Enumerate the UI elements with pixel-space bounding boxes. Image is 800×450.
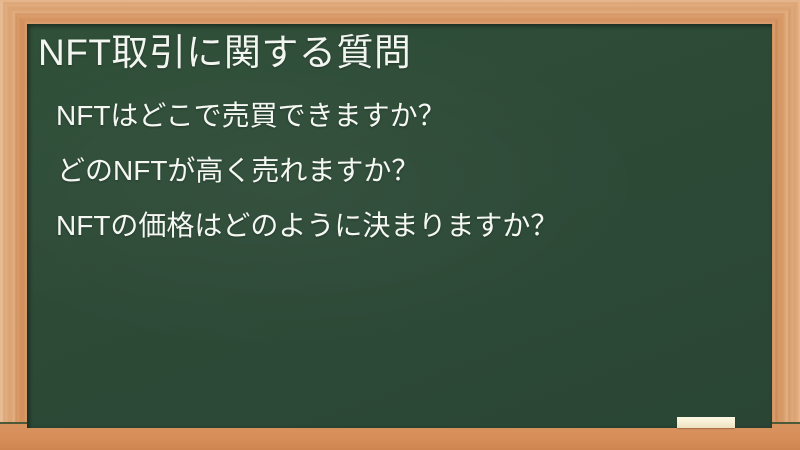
chalk-stick [677, 417, 735, 428]
frame-rail-top [0, 0, 800, 24]
slide-title: NFT取引に関する質問 [38, 32, 411, 75]
question-list: NFTはどこで売買できますか？ どのNFTが高く売れますか？ NFTの価格はどの… [54, 102, 558, 267]
chalkboard-surface: NFT取引に関する質問 NFTはどこで売買できますか？ どのNFTが高く売れます… [27, 24, 772, 428]
chalkboard-content: NFT取引に関する質問 NFTはどこで売買できますか？ どのNFTが高く売れます… [27, 24, 772, 428]
frame-rail-right [772, 0, 800, 450]
list-item: NFTの価格はどのように決まりますか？ [56, 212, 558, 240]
list-item: NFTはどこで売買できますか？ [56, 102, 558, 130]
chalkboard-slide: NFT取引に関する質問 NFTはどこで売買できますか？ どのNFTが高く売れます… [0, 0, 800, 450]
frame-rail-left [0, 0, 27, 450]
list-item: どのNFTが高く売れますか？ [57, 157, 558, 185]
